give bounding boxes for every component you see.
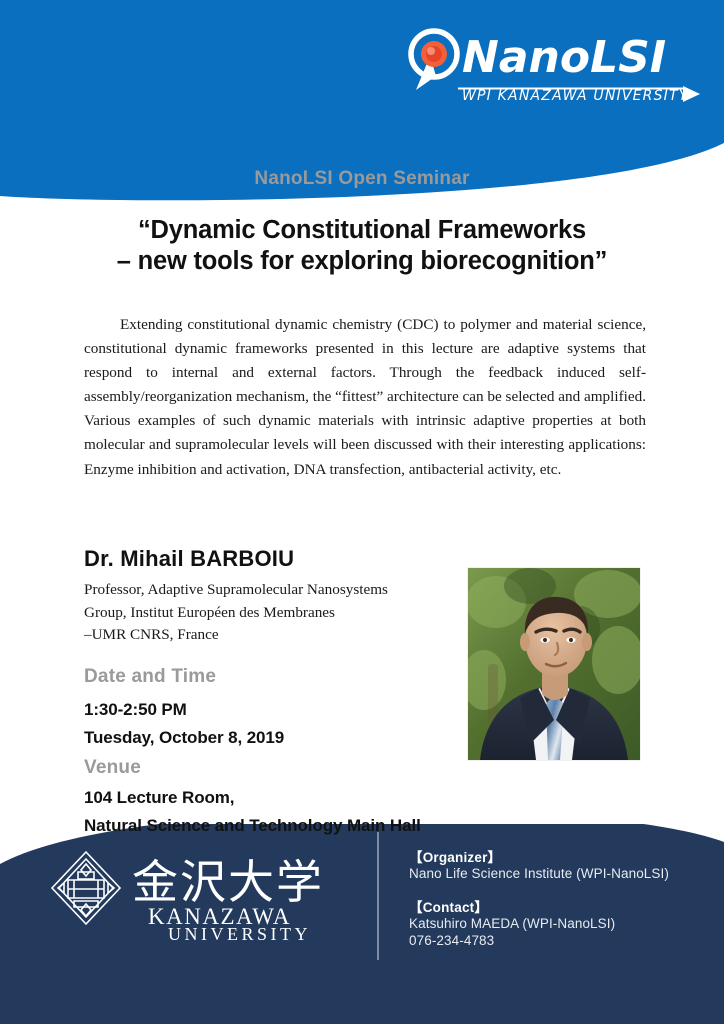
title-line-1: “Dynamic Constitutional Frameworks <box>40 215 684 246</box>
portrait-image <box>468 568 640 760</box>
footer-content: 金沢大学 KANAZAWA UNIVERSITY 【Organizer】 Nan… <box>0 824 724 1024</box>
affiliation-line-1: Professor, Adaptive Supramolecular Nanos… <box>84 579 454 602</box>
contact-heading: 【Contact】 <box>409 896 488 916</box>
romaji-line-2: UNIVERSITY <box>168 924 311 944</box>
date-time-label: Date and Time <box>84 666 216 688</box>
abstract-paragraph: Extending constitutional dynamic chemist… <box>84 313 646 482</box>
nanolsi-logo: NanoLSI WPI KANAZAWA UNIVERSITY <box>400 24 700 108</box>
date-time-value-time: 1:30-2:50 PM <box>84 700 187 720</box>
kanazawa-university-crest <box>52 852 120 924</box>
kanji-wordmark: 金沢大学 <box>132 855 324 909</box>
eyebrow-label: NanoLSI Open Seminar <box>0 168 724 190</box>
contact-person: Katsuhiro MAEDA (WPI-NanoLSI) <box>409 915 615 932</box>
logo-wordmark: NanoLSI <box>462 32 666 83</box>
speaker-name: Dr. Mihail BARBOIU <box>84 546 294 572</box>
page-title: “Dynamic Constitutional Frameworks – new… <box>40 215 684 277</box>
contact-phone: 076-234-4783 <box>409 932 615 949</box>
venue-label: Venue <box>84 757 141 779</box>
affiliation-line-2: Group, Institut Européen des Membranes <box>84 602 454 625</box>
speaker-photo <box>468 568 640 760</box>
venue-line-1: 104 Lecture Room, <box>84 788 234 808</box>
organizer-body: Nano Life Science Institute (WPI-NanoLSI… <box>409 865 669 882</box>
affiliation-line-3: –UMR CNRS, France <box>84 624 454 647</box>
footer-divider <box>377 832 379 960</box>
kanazawa-university-logo: 金沢大学 KANAZAWA UNIVERSITY <box>44 844 354 949</box>
contact-body: Katsuhiro MAEDA (WPI-NanoLSI) 076-234-47… <box>409 915 615 949</box>
date-time-value-date: Tuesday, October 8, 2019 <box>84 728 284 748</box>
organizer-heading: 【Organizer】 <box>409 846 501 866</box>
title-line-2: – new tools for exploring biorecognition… <box>40 246 684 277</box>
speaker-affiliation: Professor, Adaptive Supramolecular Nanos… <box>84 579 454 647</box>
logo-subtitle: WPI KANAZAWA UNIVERSITY <box>462 88 689 104</box>
